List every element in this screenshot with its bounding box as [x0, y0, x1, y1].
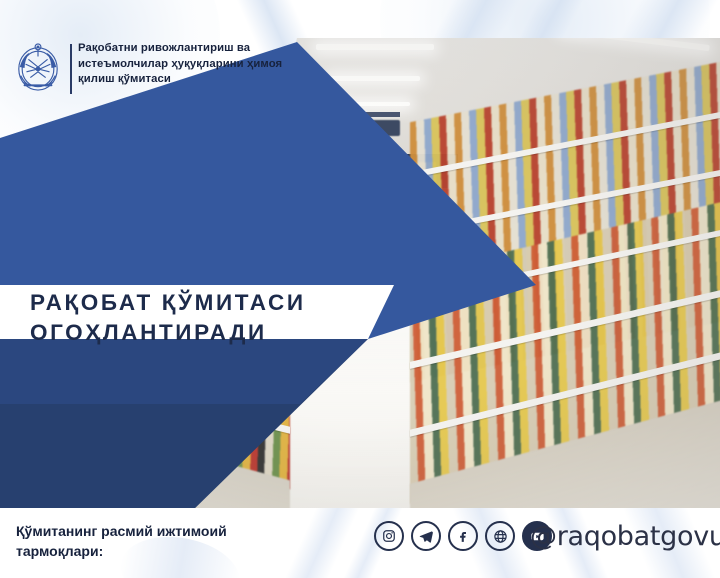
uzbekistan-state-emblem-icon: [14, 42, 62, 94]
facebook-icon[interactable]: [448, 521, 478, 551]
instagram-icon[interactable]: [374, 521, 404, 551]
header-divider: [70, 44, 72, 94]
social-links: [374, 521, 552, 551]
poster-canvas: Рақобатни ривожлантириш ва истеъмолчилар…: [0, 0, 720, 578]
telegram-icon[interactable]: [411, 521, 441, 551]
organization-name: Рақобатни ривожлантириш ва истеъмолчилар…: [78, 41, 293, 88]
website-globe-icon[interactable]: [485, 521, 515, 551]
header: Рақобатни ривожлантириш ва истеъмолчилар…: [0, 0, 300, 138]
footer-label: Қўмитанинг расмий ижтимоий тармоқлари:: [16, 521, 306, 561]
social-handle[interactable]: @raqobatgovuz: [530, 521, 720, 552]
page-title: РАҚОБАТ ҚЎМИТАСИ ОГОҲЛАНТИРАДИ: [30, 288, 380, 348]
